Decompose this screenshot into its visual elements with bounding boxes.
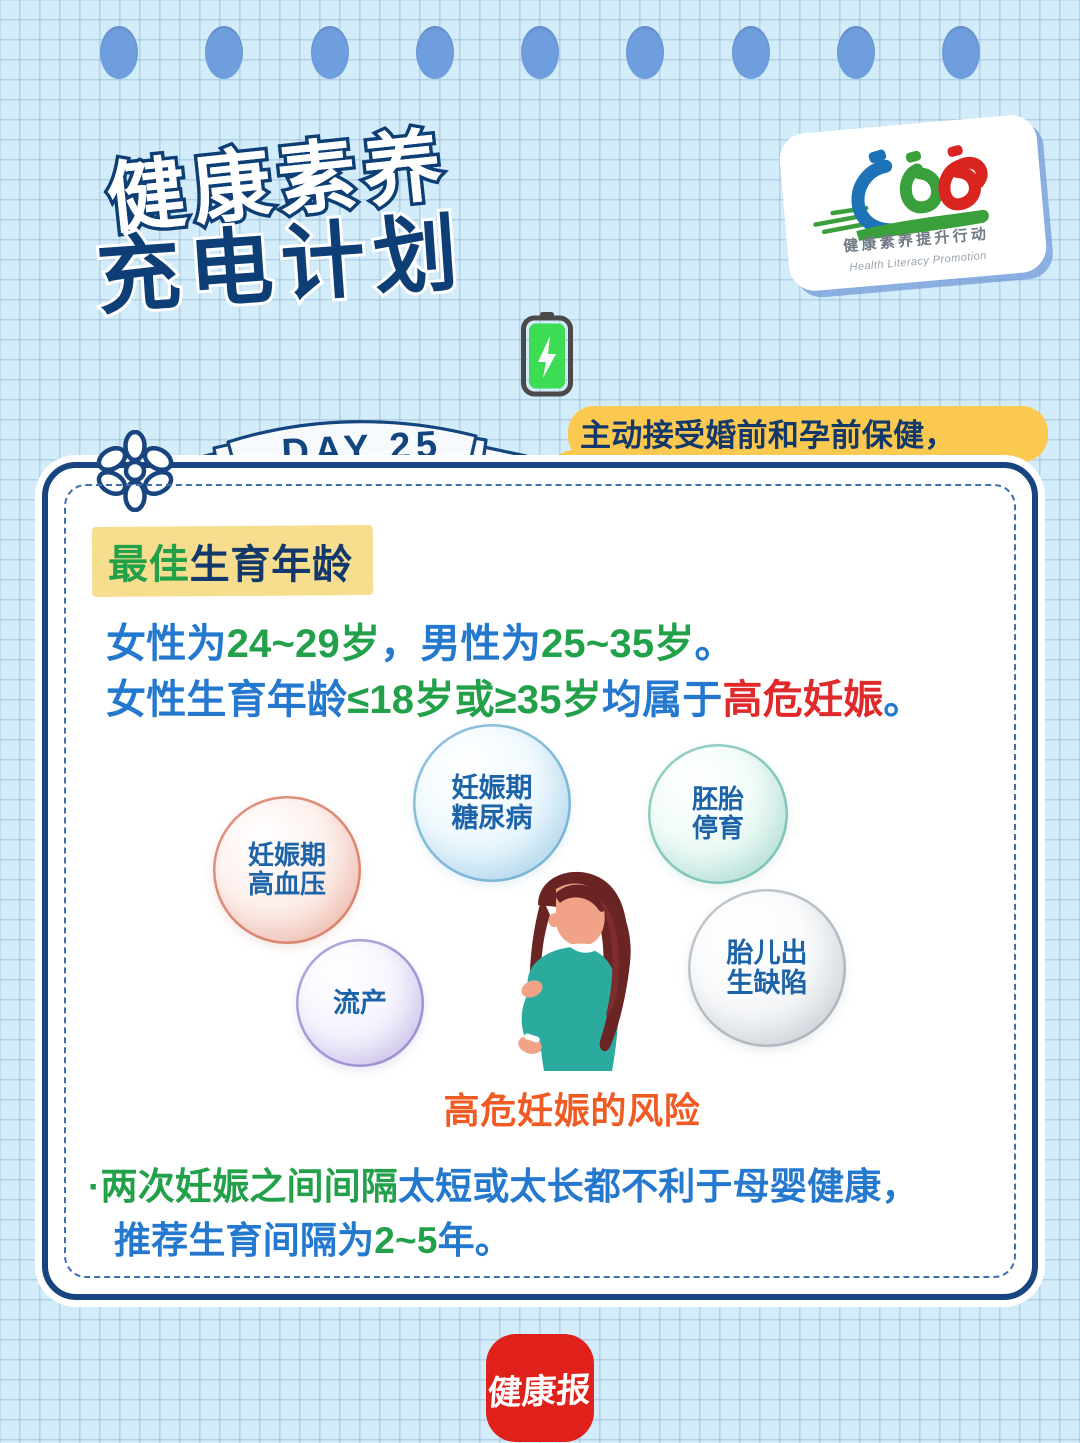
bullet-note: ·两次妊娠之间间隔太短或太长都不利于母婴健康， 推荐生育间隔为2~5年。 [88,1160,1018,1268]
pregnant-woman-illustration [480,859,670,1084]
line2-seg-c: 均属于 [602,678,723,722]
binder-hole [521,26,559,79]
bullet-seg-1: 两次妊娠之间间隔 [101,1166,398,1207]
bubble-line-1: 胚胎 [692,785,744,814]
bullet-seg-4: 2~5 [374,1220,437,1261]
risk-caption: 高危妊娠的风险 [402,1082,742,1134]
body-paragraph: 女性为24~29岁，男性为25~35岁。 女性生育年龄≤18岁或≥35岁均属于高… [106,616,1006,728]
risk-bubble-birth-defects: 胎儿出 生缺陷 [688,889,846,1047]
line2-seg-a: 女性生育年龄 [106,678,347,722]
line2-seg-b: ≤18岁或≥35岁 [347,678,602,722]
bubble-line-2: 糖尿病 [452,803,533,833]
header: 健康素养 充电计划 DAY 25 [0,96,1080,426]
heading-part-green: 最佳 [108,543,190,587]
line2-seg-d: 高危妊娠 [723,678,884,722]
bubble-line-1: 流产 [333,988,387,1018]
risk-bubble-pregnancy-hypertension: 妊娠期 高血压 [213,796,361,944]
banner-line-1: 主动接受婚前和孕前保健， [580,412,1050,460]
line2-seg-e: 。 [883,678,923,722]
risk-bubble-cluster: 妊娠期 高血压 妊娠期 糖尿病 胚胎 停育 胎儿出 生缺陷 流产 [48,724,1044,1124]
publisher-logo-text: 健康报 [487,1362,594,1415]
battery-charging-icon [521,312,573,398]
bubble-line-1: 胎儿出 [727,938,808,968]
binder-hole [732,26,770,79]
line1-seg-a: 女性为 [106,622,227,666]
bullet-seg-5: 年。 [438,1220,512,1261]
binder-hole [416,26,454,79]
bullet-seg-3: 推荐生育间隔为 [114,1220,374,1261]
risk-bubble-miscarriage: 流产 [296,939,424,1067]
binder-holes [0,26,1080,76]
publisher-logo: 健康报 [486,1334,594,1442]
binder-hole [311,26,349,79]
binder-hole [837,26,875,79]
program-logo: 健康素养提升行动 Health Literacy Promotion [778,113,1049,293]
bubble-line-2: 停育 [692,814,744,843]
paragraph-line-1: 女性为24~29岁，男性为25~35岁。 [106,616,1006,672]
bubble-line-2: 生缺陷 [727,968,808,998]
bullet-marker: · [88,1166,101,1207]
binder-hole [942,26,980,79]
line1-seg-b: 24~29岁 [227,622,381,666]
line1-seg-d: 25~35岁 [541,622,695,666]
heading-part-navy: 生育年龄 [190,543,353,587]
content-card: 最佳生育年龄 女性为24~29岁，男性为25~35岁。 女性生育年龄≤18岁或≥… [42,462,1038,1300]
bubble-line-1: 妊娠期 [452,773,533,803]
bubble-line-2: 高血压 [248,870,326,899]
binder-hole [626,26,664,79]
binder-hole [205,26,243,79]
title-line-2: 充电计划 [92,185,469,331]
line1-seg-e: 。 [695,622,735,666]
bullet-seg-2: 太短或太长都不利于母婴健康， [398,1166,919,1207]
section-heading: 最佳生育年龄 [108,532,353,588]
line1-seg-c: ，男性为 [380,622,541,666]
bubble-line-1: 妊娠期 [248,841,326,870]
paragraph-line-2: 女性生育年龄≤18岁或≥35岁均属于高危妊娠。 [106,672,1006,728]
binder-hole [100,26,138,79]
flower-outline-icon [94,430,176,512]
